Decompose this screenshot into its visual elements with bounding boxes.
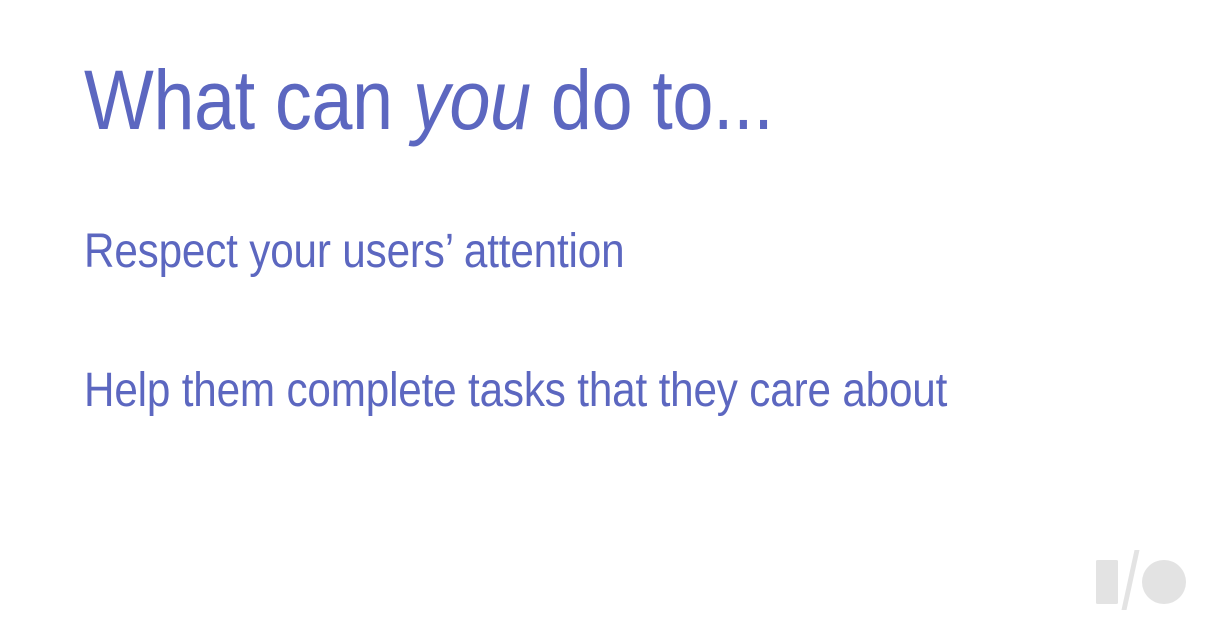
logo-i-bar — [1096, 560, 1118, 604]
slide-title: What can you do to... — [84, 58, 773, 142]
slide-body-line-2: Help them complete tasks that they care … — [84, 367, 947, 415]
slide-title-emphasis: you — [413, 53, 531, 147]
slide-body-line-1: Respect your users’ attention — [84, 228, 624, 276]
slide-title-part-2: do to... — [531, 53, 774, 147]
logo-slash — [1122, 550, 1140, 610]
presentation-slide: What can you do to... Respect your users… — [0, 0, 1228, 632]
google-io-logo — [1092, 548, 1188, 612]
logo-o-circle — [1142, 560, 1186, 604]
slide-title-part-1: What can — [84, 53, 413, 147]
